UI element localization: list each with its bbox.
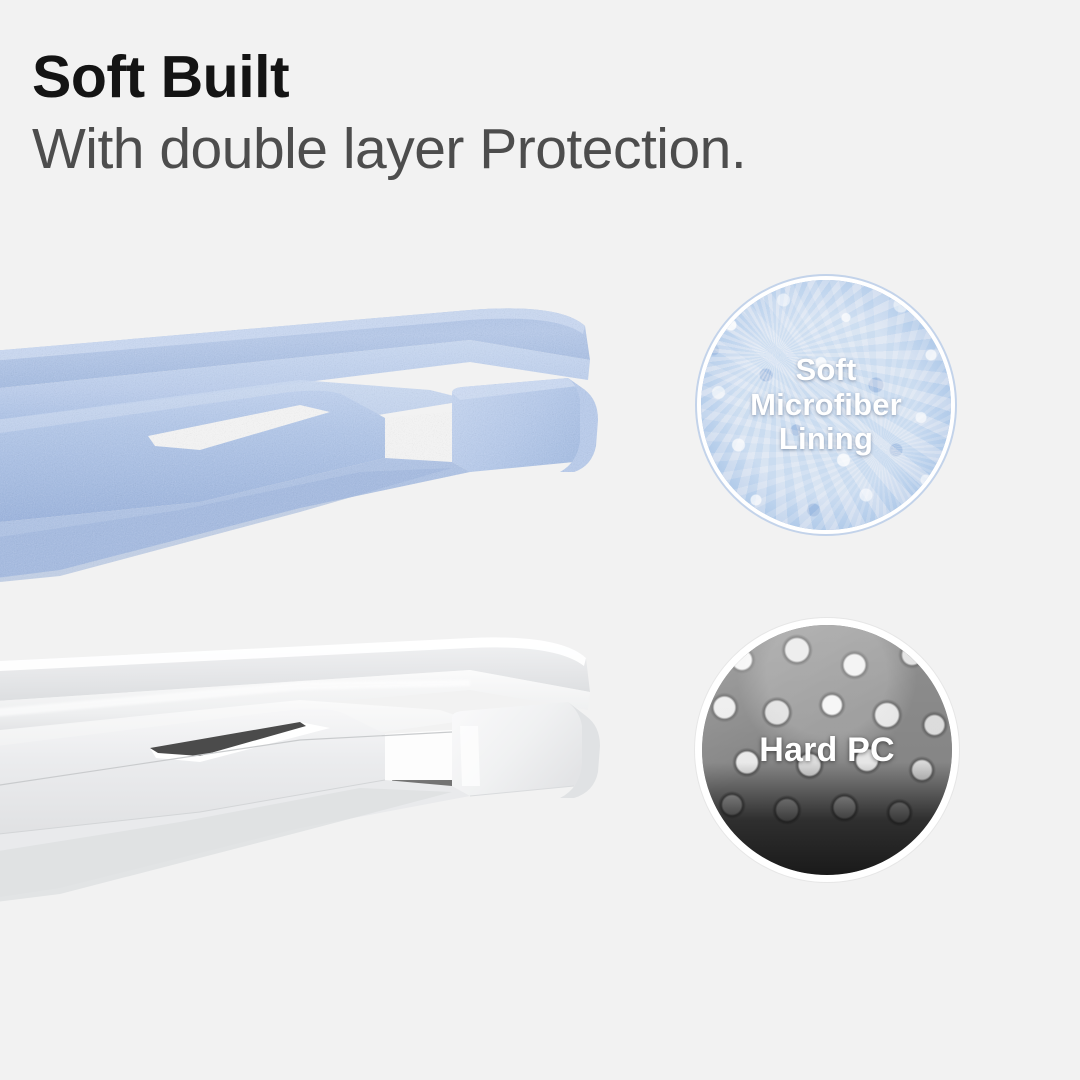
callout-label-line-1: Soft bbox=[750, 353, 902, 388]
blue-microfiber-case-edge bbox=[0, 308, 598, 584]
clear-pc-case-edge bbox=[0, 637, 600, 904]
callout-label-hard-pc: Hard PC bbox=[759, 731, 895, 769]
promo-graphic: Soft Built With double layer Protection. bbox=[0, 0, 1080, 1080]
case-layers-illustration bbox=[0, 240, 660, 940]
callout-label-line-2: Microfiber bbox=[750, 388, 902, 423]
product-image bbox=[0, 240, 660, 940]
callout-label-line-3: Lining bbox=[750, 422, 902, 457]
page-subtitle: With double layer Protection. bbox=[32, 121, 1032, 178]
heading-block: Soft Built With double layer Protection. bbox=[32, 48, 1032, 178]
callout-soft-microfiber-lining: Soft Microfiber Lining bbox=[697, 276, 955, 534]
page-title: Soft Built bbox=[32, 48, 1032, 107]
callout-label-microfiber: Soft Microfiber Lining bbox=[750, 353, 902, 457]
callout-hard-pc: Hard PC bbox=[695, 618, 959, 882]
